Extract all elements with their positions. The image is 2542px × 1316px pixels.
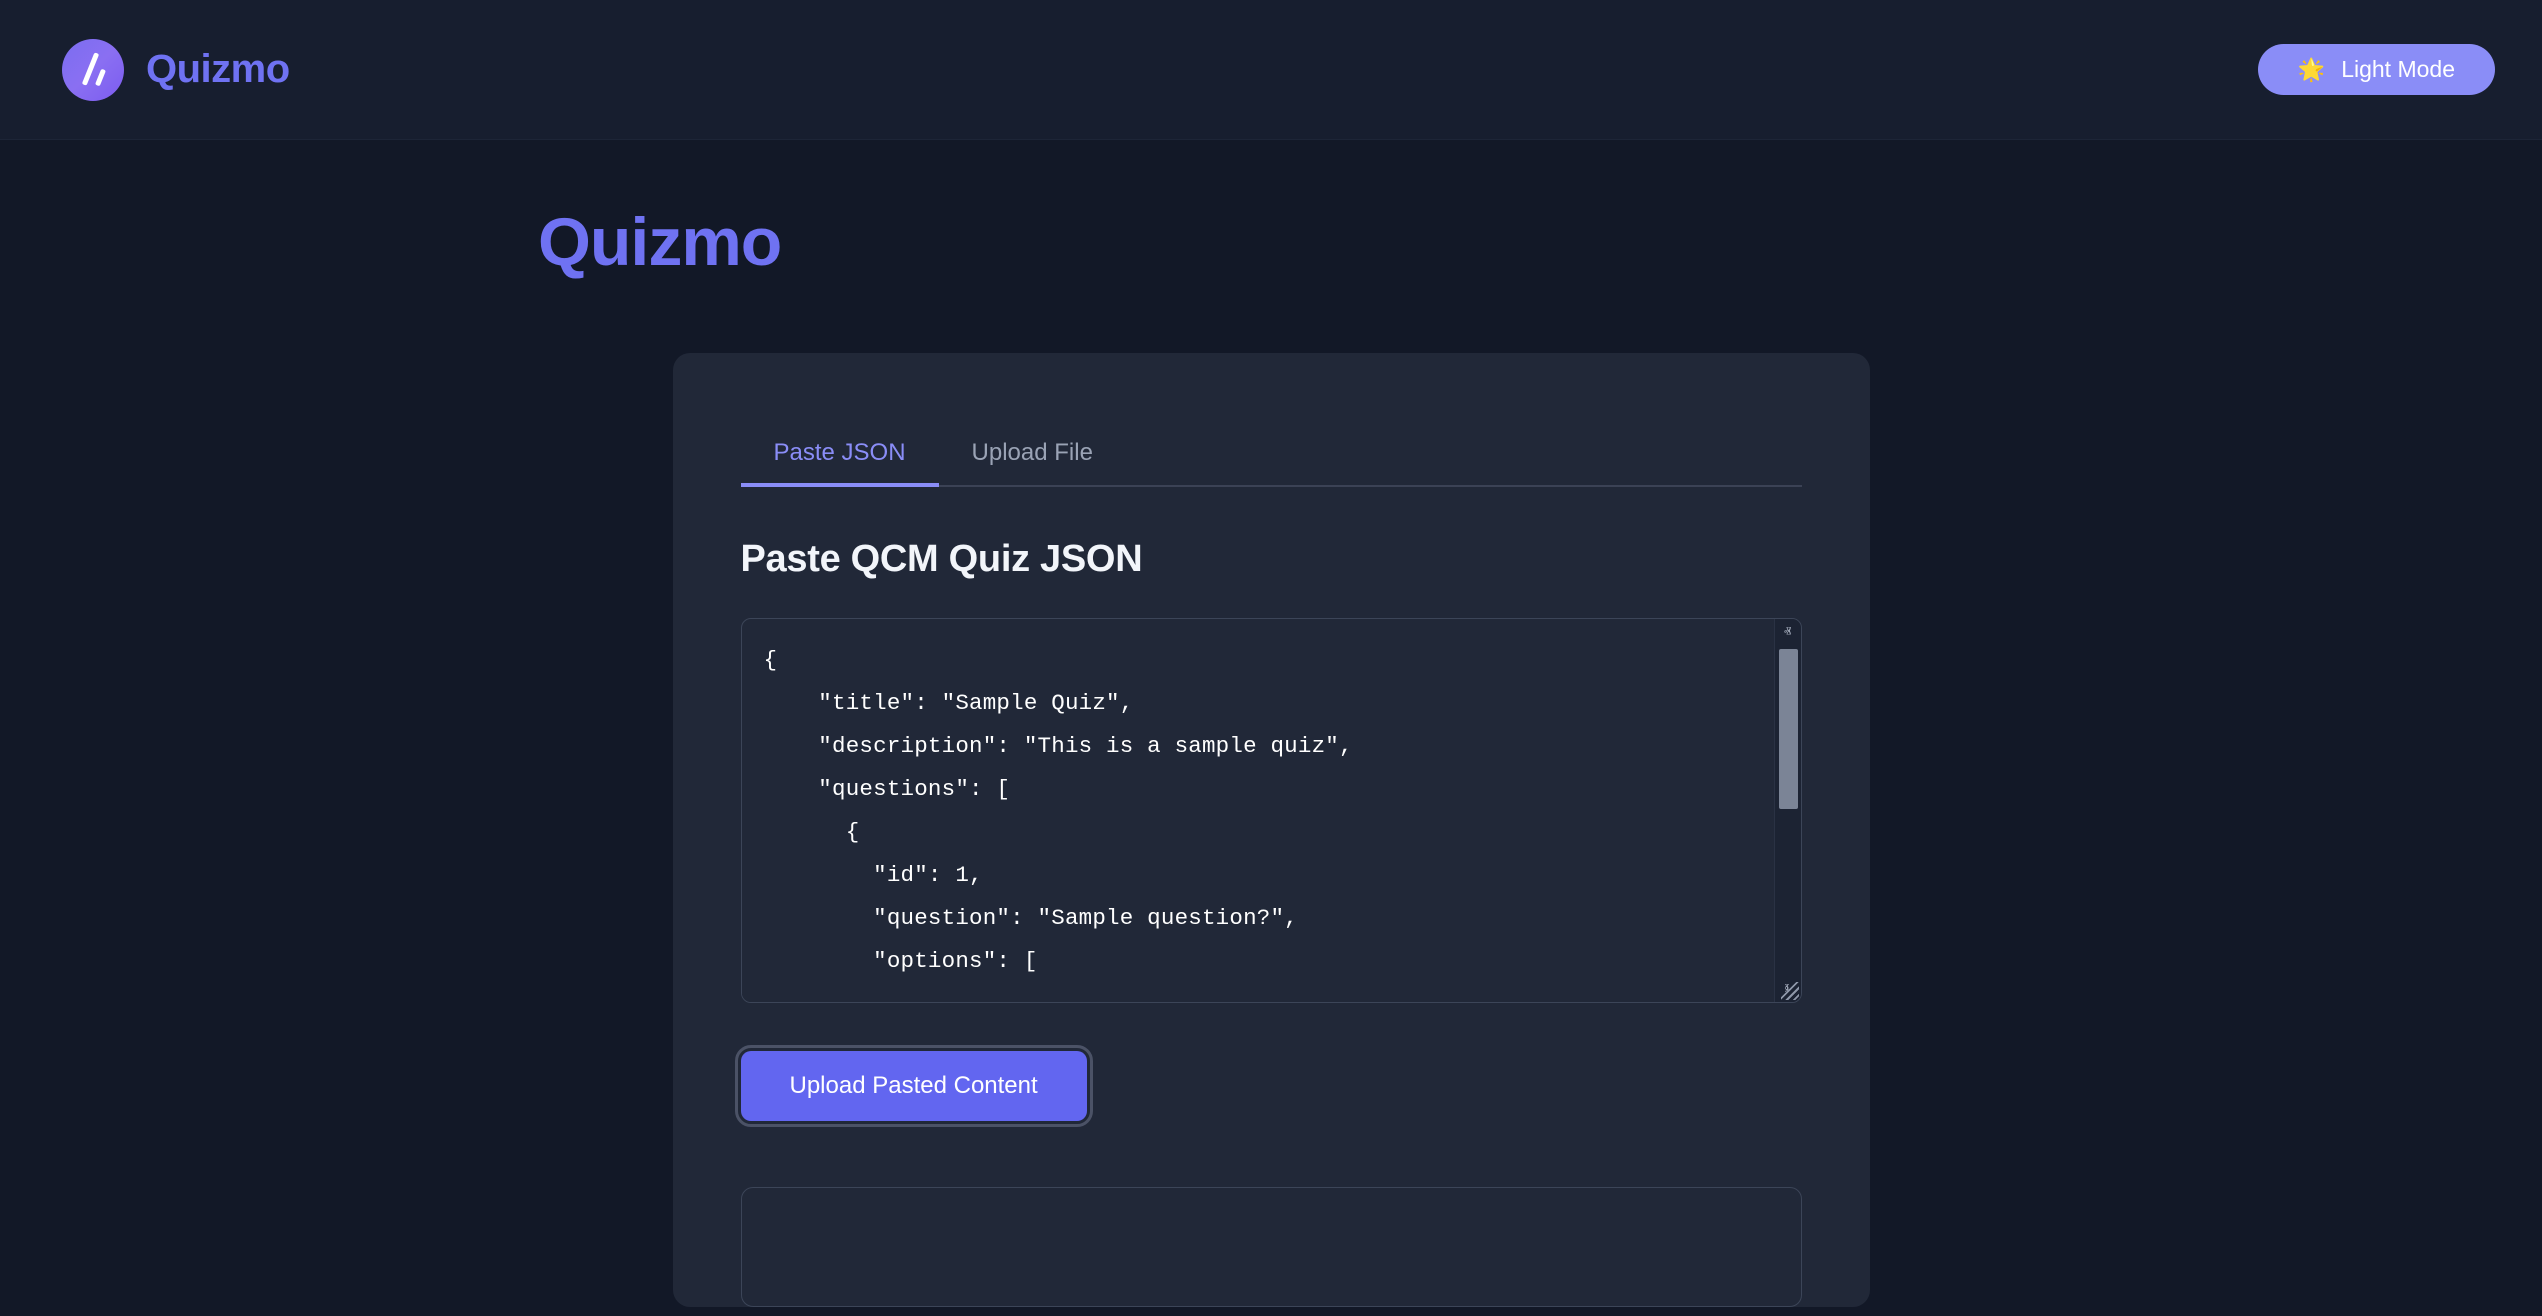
main-content: Quizmo Paste JSON Upload File Paste QCM …: [0, 203, 2542, 1307]
brand: Quizmo: [62, 39, 290, 101]
brand-name: Quizmo: [146, 47, 290, 92]
light-mode-toggle-button[interactable]: 🌟 Light Mode: [2258, 44, 2495, 95]
json-textarea-scrollbar[interactable]: ⱏ ⱛ: [1774, 619, 1801, 1002]
app-header: Quizmo 🌟 Light Mode: [0, 0, 2542, 140]
json-textarea-bottom-clip: [742, 994, 1801, 1002]
quiz-upload-card: Paste JSON Upload File Paste QCM Quiz JS…: [673, 353, 1870, 1307]
upload-pasted-content-button[interactable]: Upload Pasted Content: [741, 1051, 1087, 1121]
sun-icon: 🌟: [2298, 59, 2325, 81]
scroll-up-arrow-icon[interactable]: ⱏ: [1775, 619, 1801, 645]
json-textarea-value: { "title": "Sample Quiz", "description":…: [764, 639, 1765, 1003]
textarea-resize-handle[interactable]: [1781, 982, 1799, 1000]
json-textarea[interactable]: { "title": "Sample Quiz", "description":…: [741, 618, 1802, 1003]
tab-upload-file[interactable]: Upload File: [939, 441, 1126, 485]
section-title: Paste QCM Quiz JSON: [741, 538, 1802, 581]
lower-output-panel: [741, 1187, 1802, 1307]
page-title: Quizmo: [538, 203, 2542, 281]
scrollbar-thumb[interactable]: [1779, 649, 1798, 809]
tab-paste-json[interactable]: Paste JSON: [741, 441, 939, 485]
slash-logo-icon: [62, 39, 124, 101]
tab-bar: Paste JSON Upload File: [741, 409, 1802, 487]
logo-slash-short: [95, 68, 106, 86]
light-mode-toggle-label: Light Mode: [2341, 58, 2455, 81]
